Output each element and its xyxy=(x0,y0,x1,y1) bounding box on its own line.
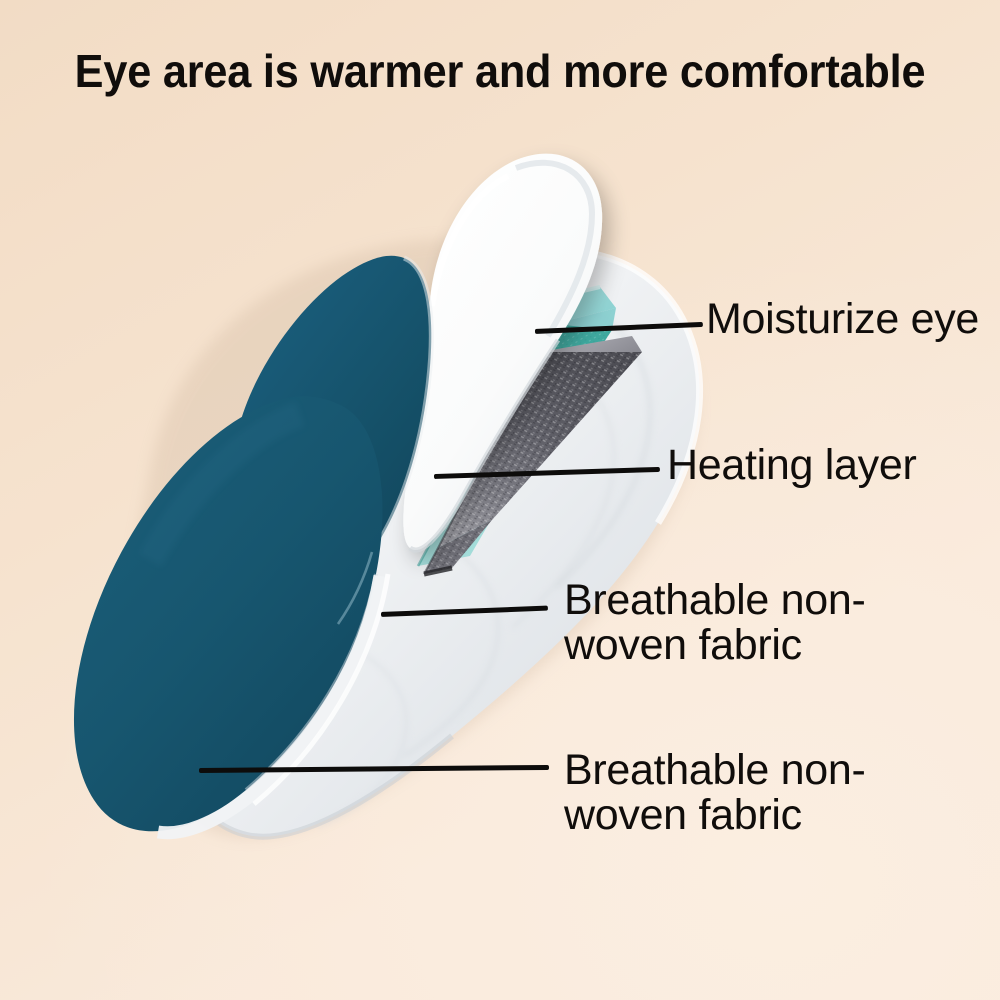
label-heating-layer: Heating layer xyxy=(667,443,916,488)
label-breathable-nonwoven-fabric-upper: Breathable non- woven fabric xyxy=(564,578,866,667)
label-breathable-nonwoven-fabric-lower: Breathable non- woven fabric xyxy=(564,748,866,837)
product-diagram: Eye area is warmer and more comfortable xyxy=(0,0,1000,1000)
eye-mask-illustration xyxy=(0,0,1000,1000)
label-moisturize-eye: Moisturize eye xyxy=(706,297,979,342)
